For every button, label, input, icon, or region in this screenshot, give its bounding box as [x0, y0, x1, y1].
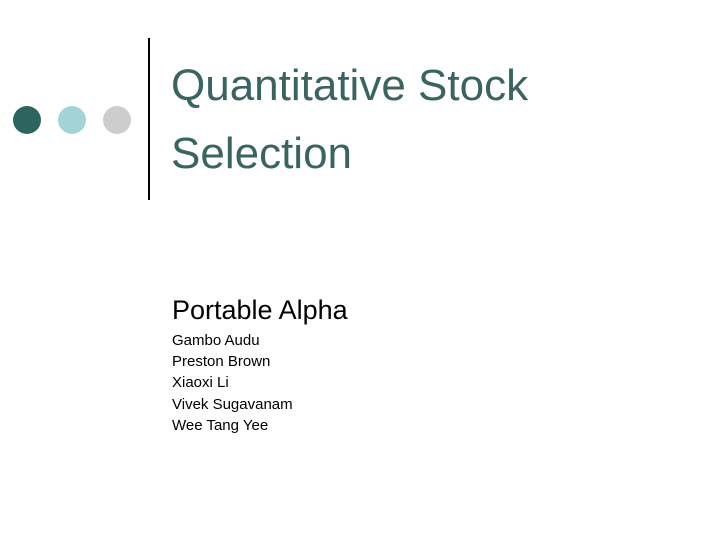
- author-list: Gambo Audu Preston Brown Xiaoxi Li Vivek…: [172, 330, 592, 436]
- page-title: Quantitative Stock Selection: [171, 52, 691, 188]
- dot-light-teal-icon: [58, 106, 86, 134]
- list-item: Preston Brown: [172, 351, 592, 372]
- vertical-divider-rule: [148, 38, 150, 200]
- decorative-dot-group: [13, 106, 131, 134]
- subtitle-block: Portable Alpha Gambo Audu Preston Brown …: [172, 294, 592, 436]
- list-item: Gambo Audu: [172, 330, 592, 351]
- list-item: Xiaoxi Li: [172, 372, 592, 393]
- subtitle-heading: Portable Alpha: [172, 294, 592, 327]
- list-item: Vivek Sugavanam: [172, 394, 592, 415]
- title-slide: Quantitative Stock Selection Portable Al…: [0, 0, 720, 540]
- title-line-2: Selection: [171, 120, 691, 188]
- dot-gray-icon: [103, 106, 131, 134]
- title-line-1: Quantitative Stock: [171, 52, 691, 120]
- dot-dark-teal-icon: [13, 106, 41, 134]
- list-item: Wee Tang Yee: [172, 415, 592, 436]
